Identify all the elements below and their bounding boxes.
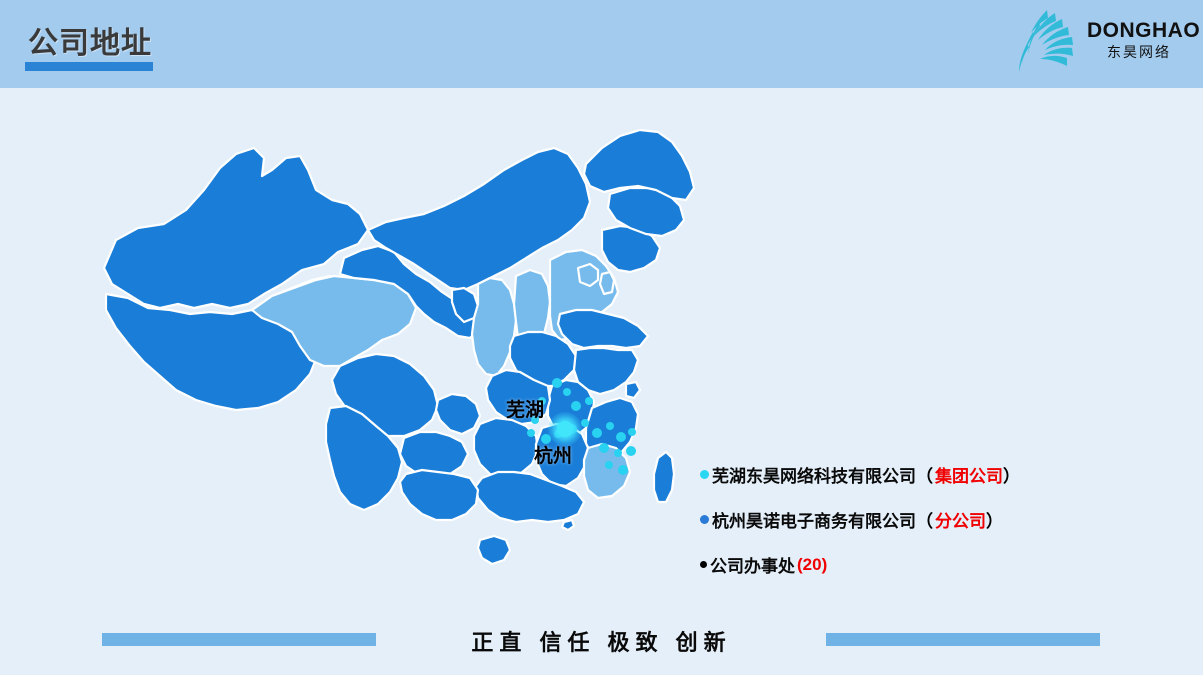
office-dot (606, 422, 614, 430)
office-dot (599, 443, 609, 453)
province-shandong (558, 310, 648, 348)
legend-bullet-cyan-icon (700, 470, 709, 479)
province-guangxi (400, 470, 478, 520)
legend-item-branch-company: 杭州昊诺电子商务有限公司 （分公司） (700, 507, 1120, 532)
logo-name: DONGHAO (1087, 20, 1191, 42)
office-dot (563, 388, 571, 396)
office-dot (585, 397, 593, 405)
china-map-svg (86, 118, 726, 618)
logo-text-block: DONGHAO 东昊网络 (1087, 20, 1191, 61)
legend-paren-open: （ (916, 462, 933, 487)
province-beijing (578, 264, 598, 286)
office-dot (581, 419, 589, 427)
legend-paren-close: ） (986, 507, 1003, 532)
legend-offices-count: (20) (797, 555, 827, 575)
legend-company-name: 杭州昊诺电子商务有限公司 (712, 507, 916, 532)
province-shaanxi (472, 278, 516, 376)
city-label-wuhu: 芜湖 (506, 395, 544, 422)
province-chongqing (436, 394, 480, 434)
office-dot (626, 446, 636, 456)
office-dot (616, 432, 626, 442)
legend-tag-group: 集团公司 (935, 462, 1003, 487)
page-title: 公司地址 (28, 18, 152, 62)
page-header: 公司地址 DONGHAO 东昊网络 (0, 0, 1203, 88)
china-map[interactable]: 芜湖 杭州 (86, 118, 726, 618)
office-dot (614, 449, 622, 457)
legend-item-offices: 公司办事处(20) (700, 552, 1120, 577)
feather-fan-icon (1011, 6, 1091, 74)
legend-item-group-company: 芜湖东昊网络科技有限公司 （集团公司） (700, 462, 1120, 487)
province-hainan (478, 536, 510, 564)
province-shanghai (626, 382, 640, 398)
legend-bullet-blue-icon (700, 515, 709, 524)
footer-bar-right (826, 633, 1100, 646)
headquarters-core (557, 421, 573, 437)
city-label-hangzhou: 杭州 (534, 441, 572, 468)
office-dot (571, 401, 581, 411)
province-hongkong (562, 520, 574, 530)
province-tianjin (600, 272, 614, 294)
office-dot (552, 378, 562, 388)
province-hunan (474, 418, 538, 478)
legend-paren-close: ） (1003, 462, 1020, 487)
province-taiwan (654, 452, 674, 502)
legend-bullet-black-icon (700, 561, 707, 568)
logo-subtitle: 东昊网络 (1087, 43, 1191, 61)
office-dot (527, 429, 535, 437)
legend-company-name: 芜湖东昊网络科技有限公司 (712, 462, 916, 487)
map-legend: 芜湖东昊网络科技有限公司 （集团公司） 杭州昊诺电子商务有限公司 （分公司） 公… (700, 462, 1120, 597)
legend-tag-branch: 分公司 (935, 507, 986, 532)
title-underline (25, 62, 153, 71)
office-dot (592, 428, 602, 438)
office-dot (628, 428, 636, 436)
legend-offices-label: 公司办事处 (710, 552, 795, 577)
legend-paren-open: （ (916, 507, 933, 532)
company-logo: DONGHAO 东昊网络 (1011, 4, 1191, 76)
office-dot (605, 461, 613, 469)
office-dot (618, 465, 628, 475)
